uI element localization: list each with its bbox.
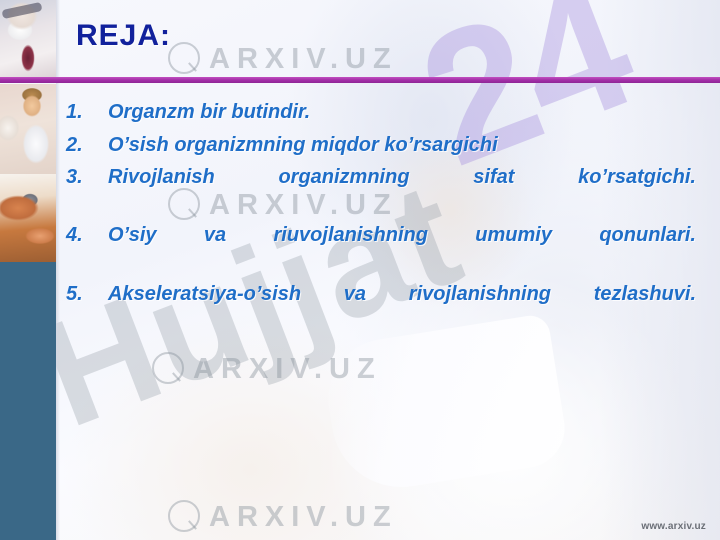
sidebar-photo-surgeon bbox=[0, 0, 56, 78]
list-item-text: Organzm bir butindir. bbox=[108, 100, 696, 126]
magnifier-icon bbox=[152, 352, 186, 386]
arxiv-watermark-label: ARXIV.UZ bbox=[209, 501, 398, 534]
source-url: www.arxiv.uz bbox=[641, 521, 706, 532]
magnifier-icon bbox=[168, 42, 202, 76]
list-item: 2. O’sish organizmning miqdor ko’rsargic… bbox=[66, 133, 696, 159]
arxiv-watermark-label: ARXIV.UZ bbox=[209, 43, 398, 76]
list-item-text: O’siy va riuvojlanishning umumiy qonunla… bbox=[108, 223, 696, 274]
arxiv-watermark: ARXIV.UZ bbox=[152, 352, 382, 386]
list-item-number: 3. bbox=[66, 165, 108, 191]
list-item-text: Akseleratsiya-o’sish va rivojlanishning … bbox=[108, 282, 696, 333]
list-item: 5. Akseleratsiya-o’sish va rivojlanishni… bbox=[66, 282, 696, 333]
list-item-number: 5. bbox=[66, 282, 108, 308]
list-item-text: Rivojlanish organizmning sifat ko’rsatgi… bbox=[108, 165, 696, 216]
list-item-text: O’sish organizmning miqdor ko’rsargichi bbox=[108, 133, 696, 159]
sidebar-photo-hands bbox=[0, 174, 56, 262]
list-item: 4. O’siy va riuvojlanishning umumiy qonu… bbox=[66, 223, 696, 274]
page-title: REJA: bbox=[76, 19, 171, 53]
magnifier-icon bbox=[168, 500, 202, 534]
agenda-list: 1. Organzm bir butindir. 2. O’sish organ… bbox=[66, 100, 696, 340]
sidebar-photo-doctor bbox=[0, 84, 56, 174]
slide: Hujjat 24 ARXIV.UZ ARXIV.UZ ARXIV.UZ ARX… bbox=[0, 0, 720, 540]
arxiv-watermark: ARXIV.UZ bbox=[168, 42, 398, 76]
title-divider bbox=[0, 77, 720, 83]
list-item: 3. Rivojlanish organizmning sifat ko’rsa… bbox=[66, 165, 696, 216]
arxiv-watermark-label: ARXIV.UZ bbox=[193, 353, 382, 386]
arxiv-watermark: ARXIV.UZ bbox=[168, 500, 398, 534]
sidebar-color-block bbox=[0, 262, 56, 540]
list-item-number: 2. bbox=[66, 133, 108, 159]
list-item-number: 1. bbox=[66, 100, 108, 126]
list-item-number: 4. bbox=[66, 223, 108, 249]
list-item: 1. Organzm bir butindir. bbox=[66, 100, 696, 126]
